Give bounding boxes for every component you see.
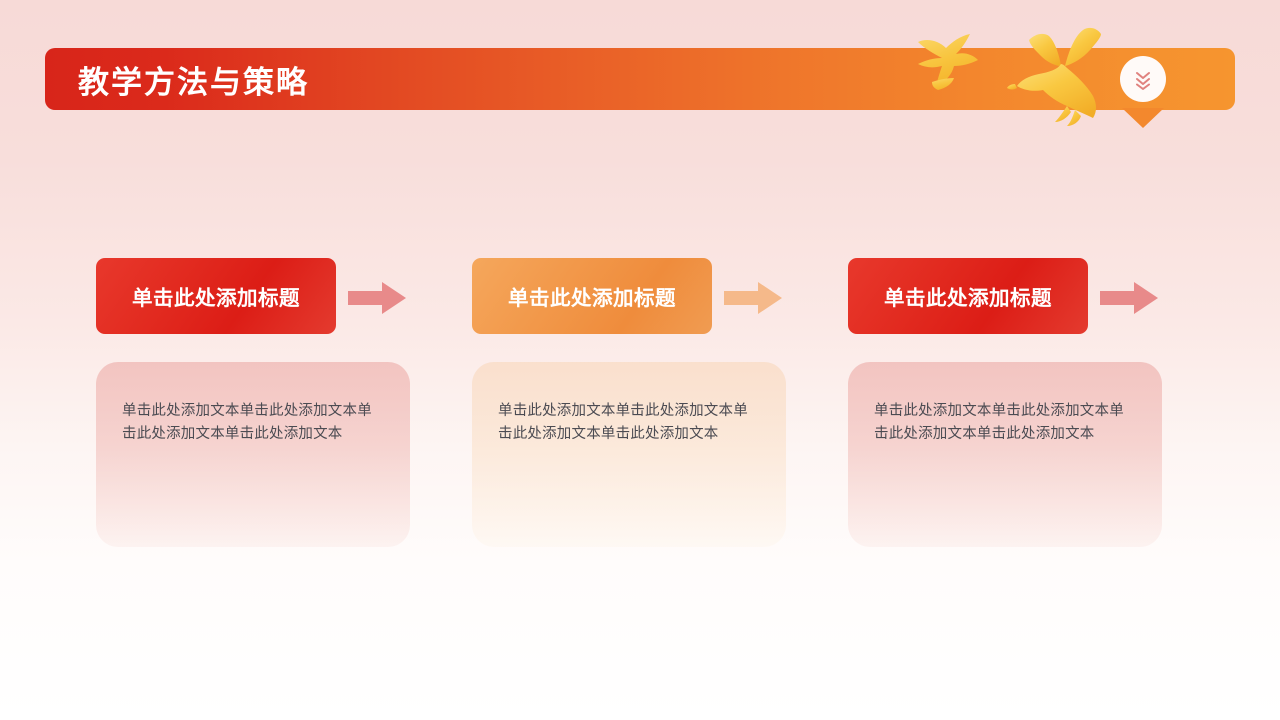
column-body-text: 单击此处添加文本单击此处添加文本单击此处添加文本单击此处添加文本	[498, 400, 760, 447]
arrow-right-icon	[1100, 280, 1158, 316]
column-body-panel: 单击此处添加文本单击此处添加文本单击此处添加文本单击此处添加文本	[472, 362, 786, 547]
column-body-panel: 单击此处添加文本单击此处添加文本单击此处添加文本单击此处添加文本	[96, 362, 410, 547]
column-body-text: 单击此处添加文本单击此处添加文本单击此处添加文本单击此处添加文本	[874, 400, 1136, 447]
double-chevron-down-icon[interactable]	[1120, 56, 1166, 102]
content-column: 单击此处添加标题 单击此处添加文本单击此处添加文本单击此处添加文本单击此处添加文…	[848, 258, 1228, 338]
column-body-panel: 单击此处添加文本单击此处添加文本单击此处添加文本单击此处添加文本	[848, 362, 1162, 547]
content-column: 单击此处添加标题 单击此处添加文本单击此处添加文本单击此处添加文本单击此处添加文…	[472, 258, 852, 338]
column-title-label: 单击此处添加标题	[132, 281, 300, 311]
column-title-label: 单击此处添加标题	[884, 281, 1052, 311]
title-row: 单击此处添加标题	[472, 258, 852, 338]
column-body-text: 单击此处添加文本单击此处添加文本单击此处添加文本单击此处添加文本	[122, 400, 384, 447]
title-row: 单击此处添加标题	[848, 258, 1228, 338]
column-title-card[interactable]: 单击此处添加标题	[848, 258, 1088, 334]
slide-canvas: 教学方法与策略 单击此处添加标题 单击此处添加文本单击此处添加文本单击此处添加文…	[0, 0, 1280, 720]
content-column: 单击此处添加标题 单击此处添加文本单击此处添加文本单击此处添加文本单击此处添加文…	[96, 258, 476, 338]
arrow-right-icon	[724, 280, 782, 316]
banner-tail-arrow	[1122, 108, 1164, 128]
arrow-right-icon	[348, 280, 406, 316]
page-title: 教学方法与策略	[78, 48, 309, 110]
column-title-card[interactable]: 单击此处添加标题	[472, 258, 712, 334]
title-row: 单击此处添加标题	[96, 258, 476, 338]
column-title-label: 单击此处添加标题	[508, 281, 676, 311]
column-title-card[interactable]: 单击此处添加标题	[96, 258, 336, 334]
